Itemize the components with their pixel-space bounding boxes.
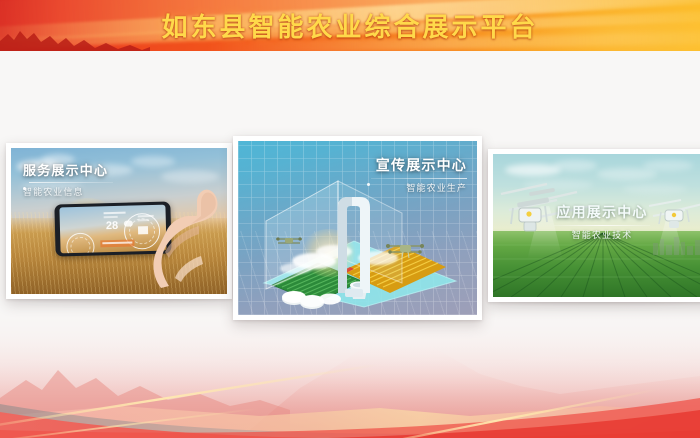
card-1-title: 服务展示中心 [23,160,113,179]
page-title: 如东县智能农业综合展示平台 [0,0,700,51]
card-2-title: 宣传展示中心 [371,155,467,175]
page-root: 如东县智能农业综合展示平台 [0,0,700,438]
card-application-center[interactable]: 应用展示中心 智能农业技术 [488,149,700,302]
card-1-text-block: 服务展示中心 智能农业信息 [23,160,113,198]
card-service-center[interactable]: 28 服务展示中心 [6,143,232,299]
card-3-subtitle: 智能农业技术 [493,228,700,241]
card-1-subtitle: 智能农业信息 [23,185,113,198]
card-application-center-image: 应用展示中心 智能农业技术 [493,154,700,297]
hand-holding-phone [145,182,227,290]
drone-icon-right [384,239,426,261]
card-2-subtitle: 智能农业生产 [371,181,467,194]
iso-cloud-4 [280,263,312,274]
card-promotion-center-image: 宣传展示中心 智能农业生产 [238,141,477,315]
card-2-text-block: 宣传展示中心 智能农业生产 [371,155,467,194]
card-3-text-block: 应用展示中心 智能农业技术 [493,202,700,241]
card-promotion-center[interactable]: 宣传展示中心 智能农业生产 [233,136,482,320]
card-3-title: 应用展示中心 [493,202,700,222]
drone-icon-left [274,233,304,249]
header-banner: 如东县智能农业综合展示平台 [0,0,700,51]
card-service-center-image: 28 服务展示中心 [11,148,227,294]
sensor-pole [330,193,374,303]
